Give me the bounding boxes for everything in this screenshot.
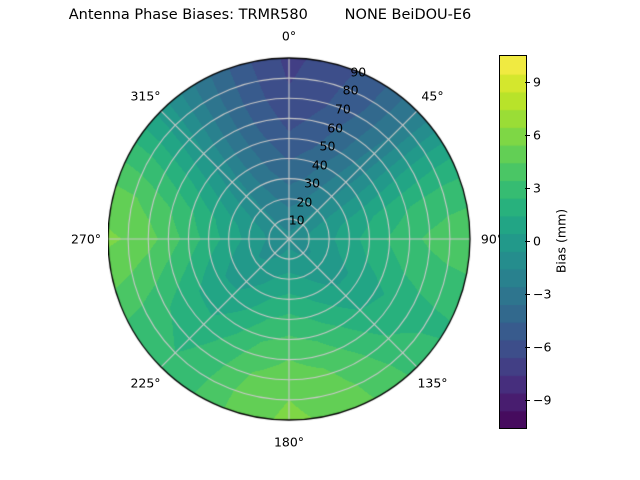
colorbar-tick: [525, 294, 530, 295]
colorbar-tick-label: −3: [533, 287, 551, 302]
colorbar[interactable]: −9−6−30369: [499, 55, 525, 427]
zenith-tick-label-20: 20: [296, 194, 312, 209]
azimuth-tick-label-315: 315°: [130, 88, 160, 103]
colorbar-tick-label: 3: [533, 180, 541, 195]
zenith-tick-label-80: 80: [343, 83, 359, 98]
colorbar-tick: [525, 82, 530, 83]
polar-plot-area[interactable]: 0°45°90°135°180°225°270°315°102030405060…: [108, 48, 488, 440]
colorbar-tick-label: −9: [533, 393, 551, 408]
zenith-tick-label-50: 50: [320, 139, 336, 154]
zenith-tick-label-70: 70: [335, 101, 351, 116]
chart-title: Antenna Phase Biases: TRMR580 NONE BeiDO…: [0, 7, 540, 23]
azimuth-tick-label-45: 45°: [421, 88, 443, 103]
colorbar-tick: [525, 400, 530, 401]
colorbar-gradient: [499, 55, 527, 429]
zenith-tick-label-60: 60: [327, 120, 343, 135]
azimuth-tick-label-270: 270°: [71, 232, 101, 247]
azimuth-tick-label-0: 0°: [282, 29, 296, 44]
azimuth-tick-label-180: 180°: [274, 435, 304, 450]
colorbar-tick: [525, 188, 530, 189]
zenith-tick-label-40: 40: [312, 157, 328, 172]
zenith-tick-label-90: 90: [350, 64, 366, 79]
figure-canvas: Antenna Phase Biases: TRMR580 NONE BeiDO…: [0, 0, 640, 480]
azimuth-tick-label-135: 135°: [417, 375, 447, 390]
colorbar-tick-label: −6: [533, 340, 551, 355]
colorbar-tick: [525, 135, 530, 136]
colorbar-tick-label: 0: [533, 234, 541, 249]
colorbar-axis-label: Bias (mm): [554, 209, 569, 273]
zenith-tick-label-10: 10: [289, 213, 305, 228]
colorbar-tick-label: 9: [533, 74, 541, 89]
zenith-tick-label-30: 30: [304, 176, 320, 191]
azimuth-tick-label-225: 225°: [130, 375, 160, 390]
colorbar-tick: [525, 241, 530, 242]
colorbar-tick-label: 6: [533, 127, 541, 142]
colorbar-tick: [525, 347, 530, 348]
